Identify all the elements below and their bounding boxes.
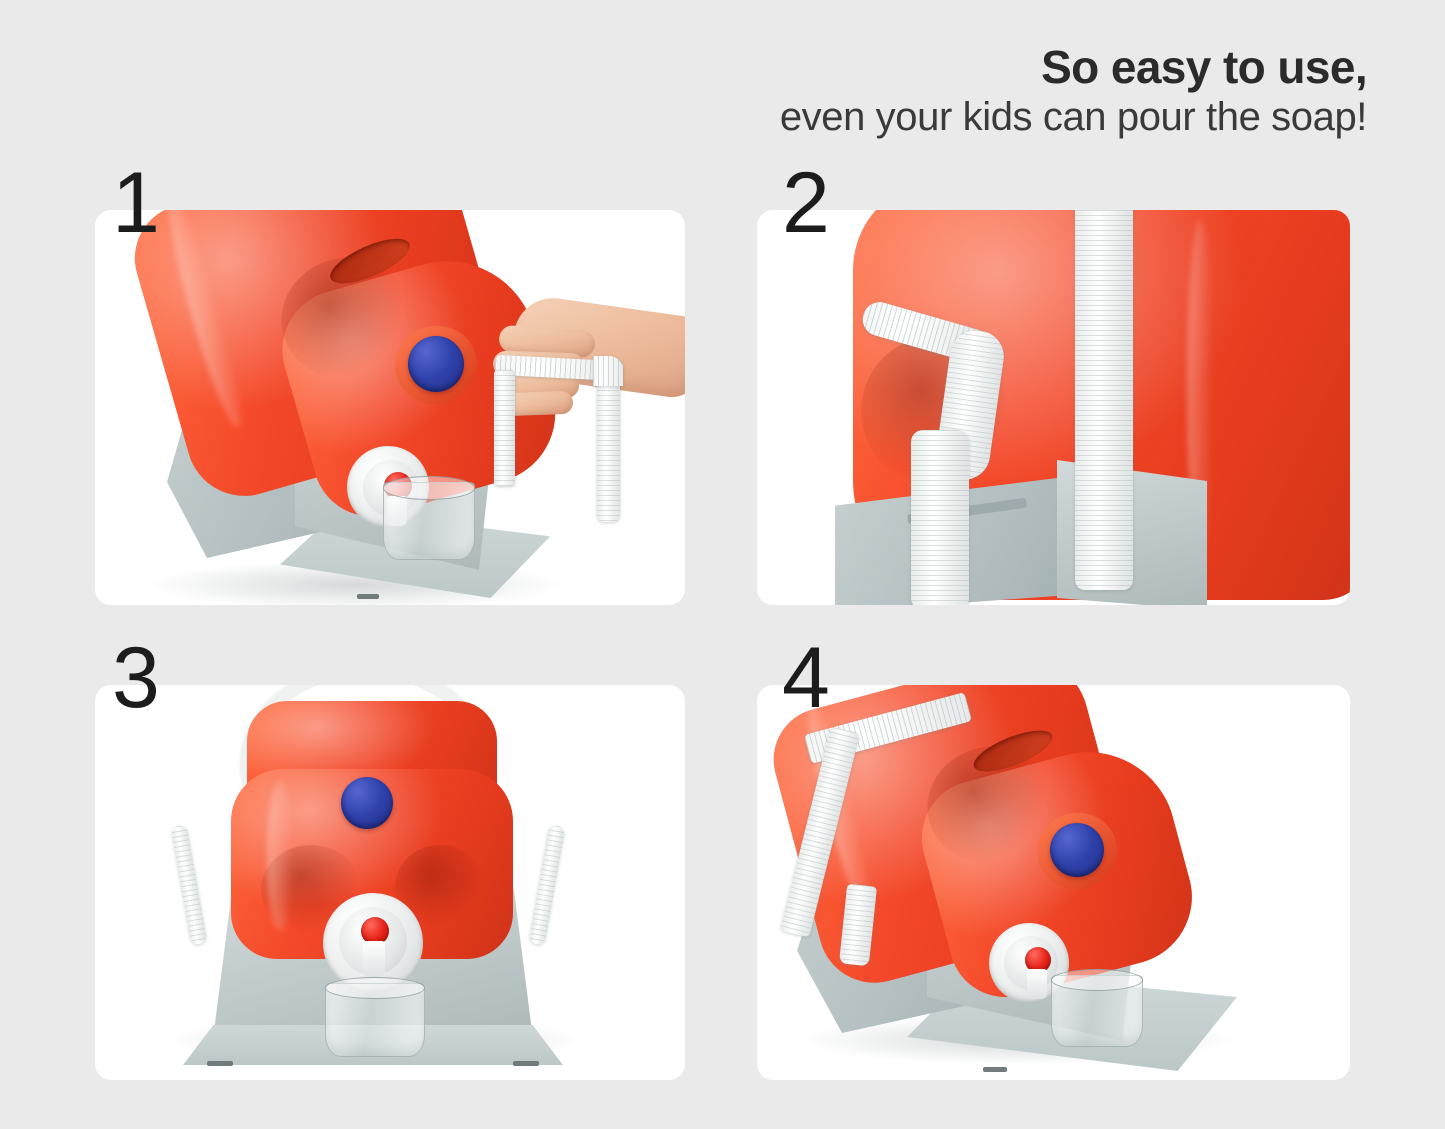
strap-left-side <box>171 825 208 946</box>
step-1-illustration <box>95 210 685 605</box>
step-number-4: 4 <box>782 635 828 721</box>
step-2-illustration <box>757 210 1350 605</box>
measuring-cup-rim <box>325 977 425 999</box>
step-number-2: 2 <box>782 160 828 246</box>
headline-line-2: even your kids can pour the soap! <box>780 97 1367 138</box>
step-number-3: 3 <box>112 635 158 721</box>
strap-free-end <box>911 430 969 605</box>
jug-highlight <box>267 781 293 931</box>
bottle-cap <box>1050 823 1104 877</box>
step-panel-3 <box>95 685 685 1080</box>
strap-threaded-vertical <box>1075 210 1133 590</box>
strap-right-leg <box>597 370 620 522</box>
bottle-cap <box>408 336 464 392</box>
strap-left-leg <box>494 370 515 486</box>
step-panel-1 <box>95 210 685 605</box>
spigot-nozzle <box>363 941 385 977</box>
headline-line-1: So easy to use, <box>780 44 1367 91</box>
strap-bend <box>593 356 623 386</box>
headline: So easy to use, even your kids can pour … <box>780 44 1367 138</box>
strap-right-side <box>529 825 566 946</box>
measuring-cup-rim <box>383 476 475 500</box>
stand-foot-left <box>207 1061 233 1066</box>
stand-foot-right <box>513 1061 539 1066</box>
step-panel-2 <box>757 210 1350 605</box>
step-4-illustration <box>757 685 1350 1080</box>
spigot-nozzle <box>1027 969 1047 999</box>
measuring-cup-rim <box>1051 969 1143 991</box>
step-3-illustration <box>95 685 685 1080</box>
stand-foot <box>983 1067 1007 1072</box>
step-panel-4 <box>757 685 1350 1080</box>
step-number-1: 1 <box>112 160 158 246</box>
bottle-cap <box>341 777 393 829</box>
stand-foot <box>357 594 379 599</box>
